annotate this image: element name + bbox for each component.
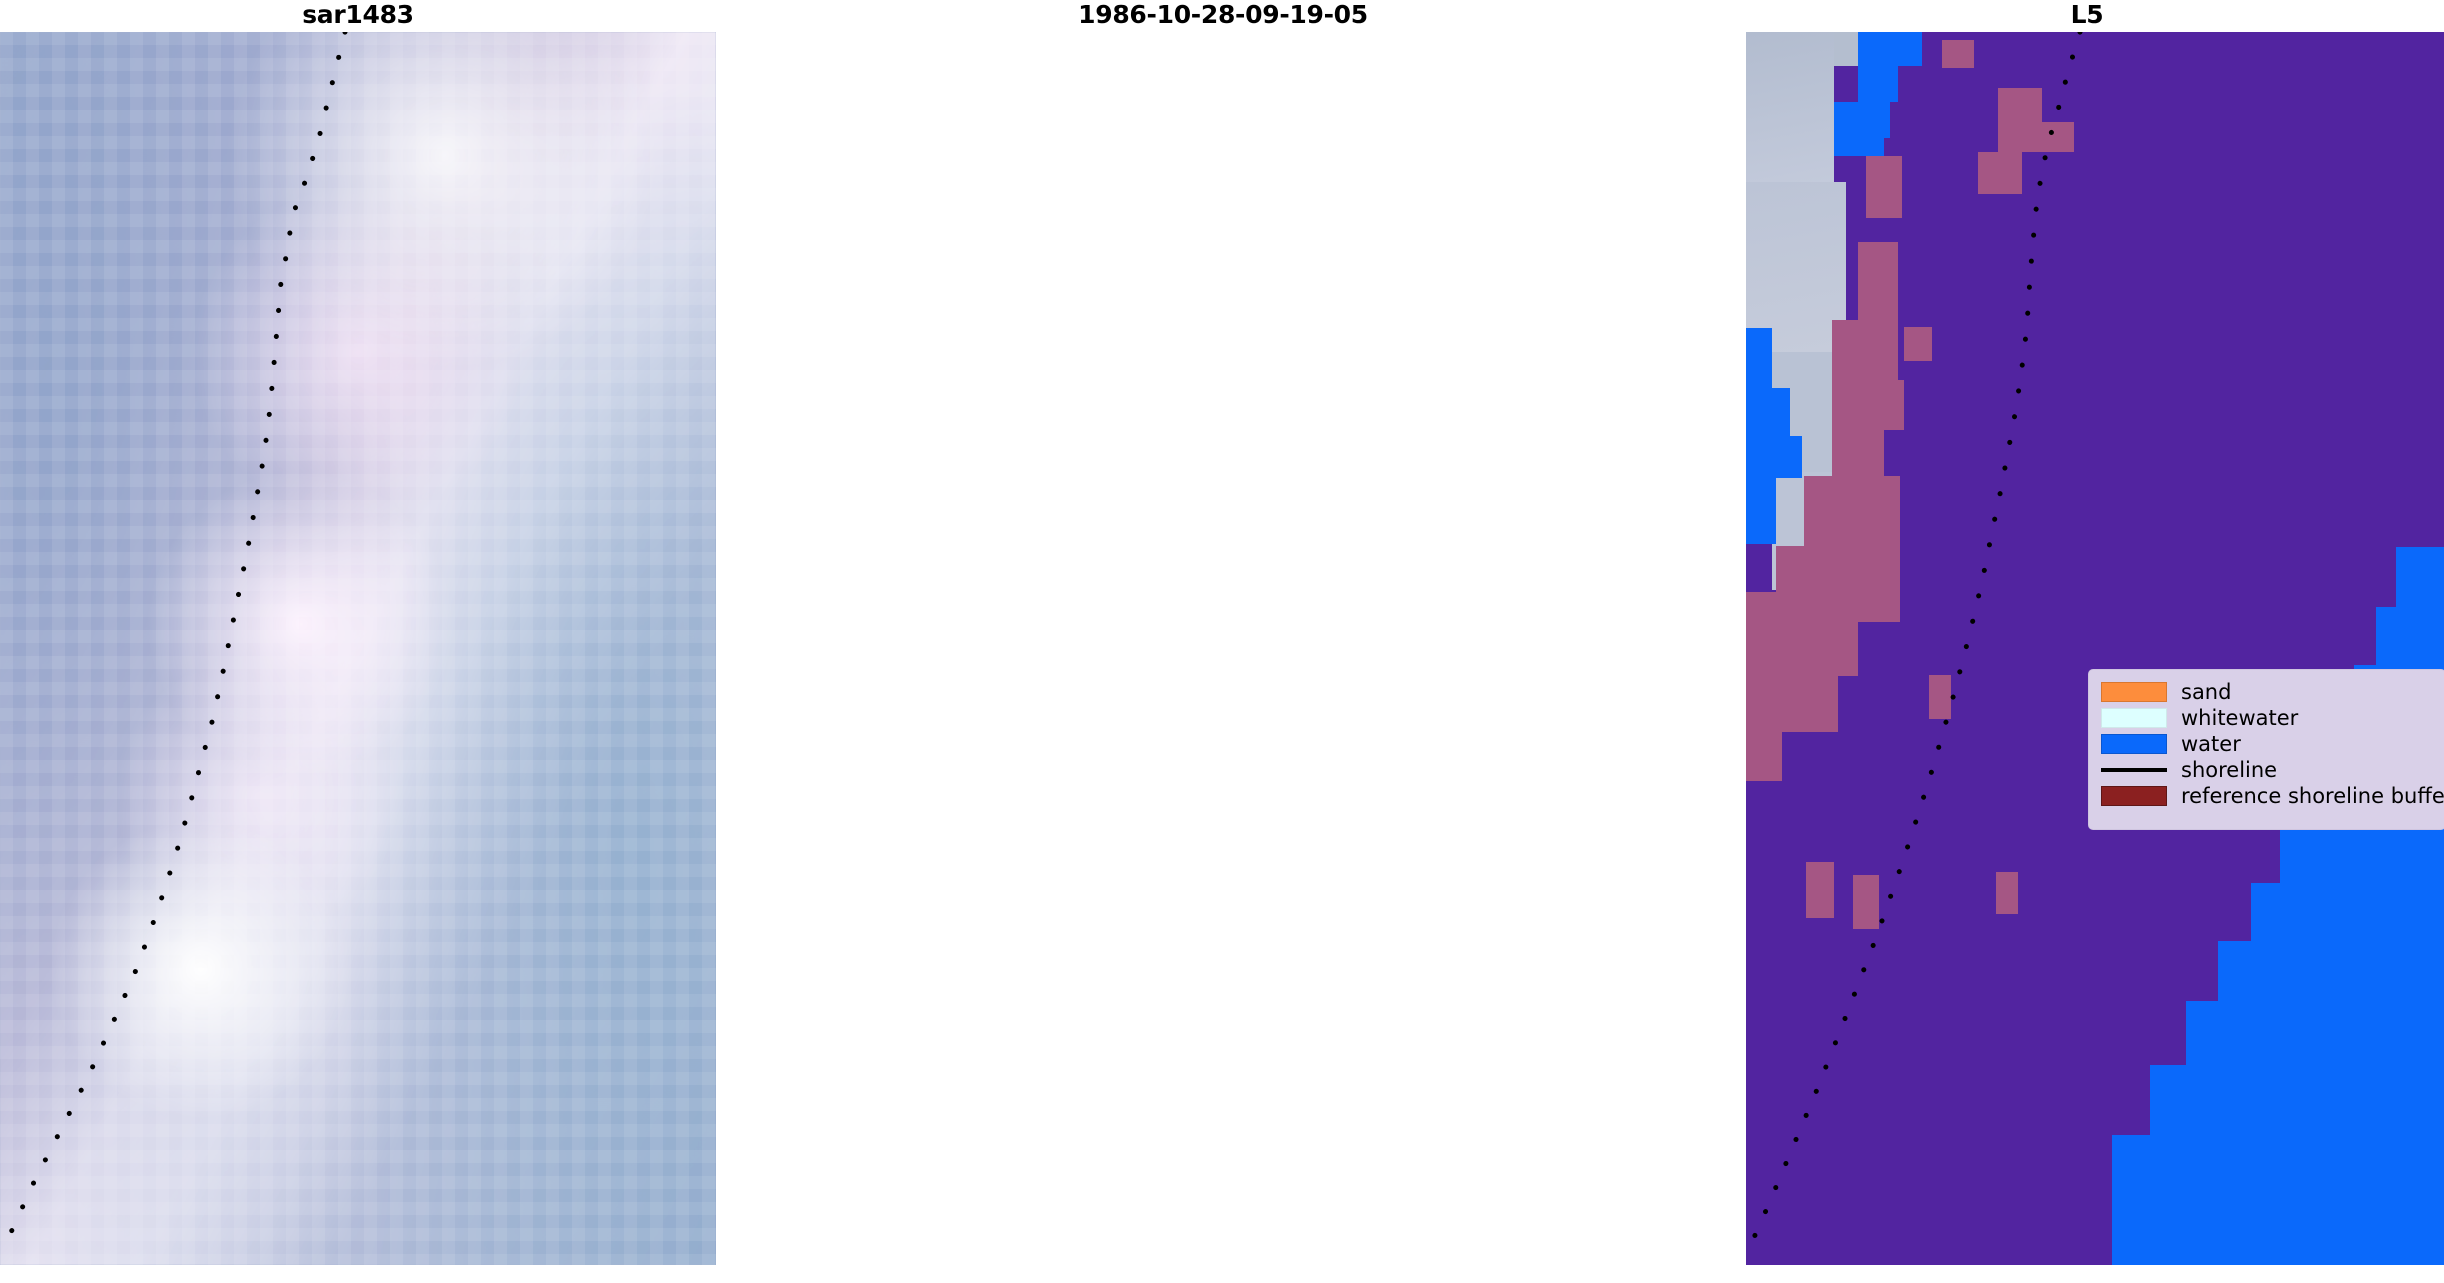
sar-image-axes — [0, 32, 716, 1265]
figure-canvas: sar1483 1986-10-28-09-19-05 — [0, 0, 2444, 1283]
panel-title-classification: 1986-10-28-09-19-05 — [873, 0, 1573, 32]
panel-title-l5: L5 — [1730, 0, 2444, 32]
panel-title-sar: sar1483 — [0, 0, 716, 32]
panel-sar: sar1483 — [0, 0, 716, 1265]
sar-pixelation-overlay — [0, 32, 716, 1265]
panel-classification: 1986-10-28-09-19-05 — [873, 0, 1573, 1265]
panel-l5: L5 — [1730, 0, 2444, 1265]
